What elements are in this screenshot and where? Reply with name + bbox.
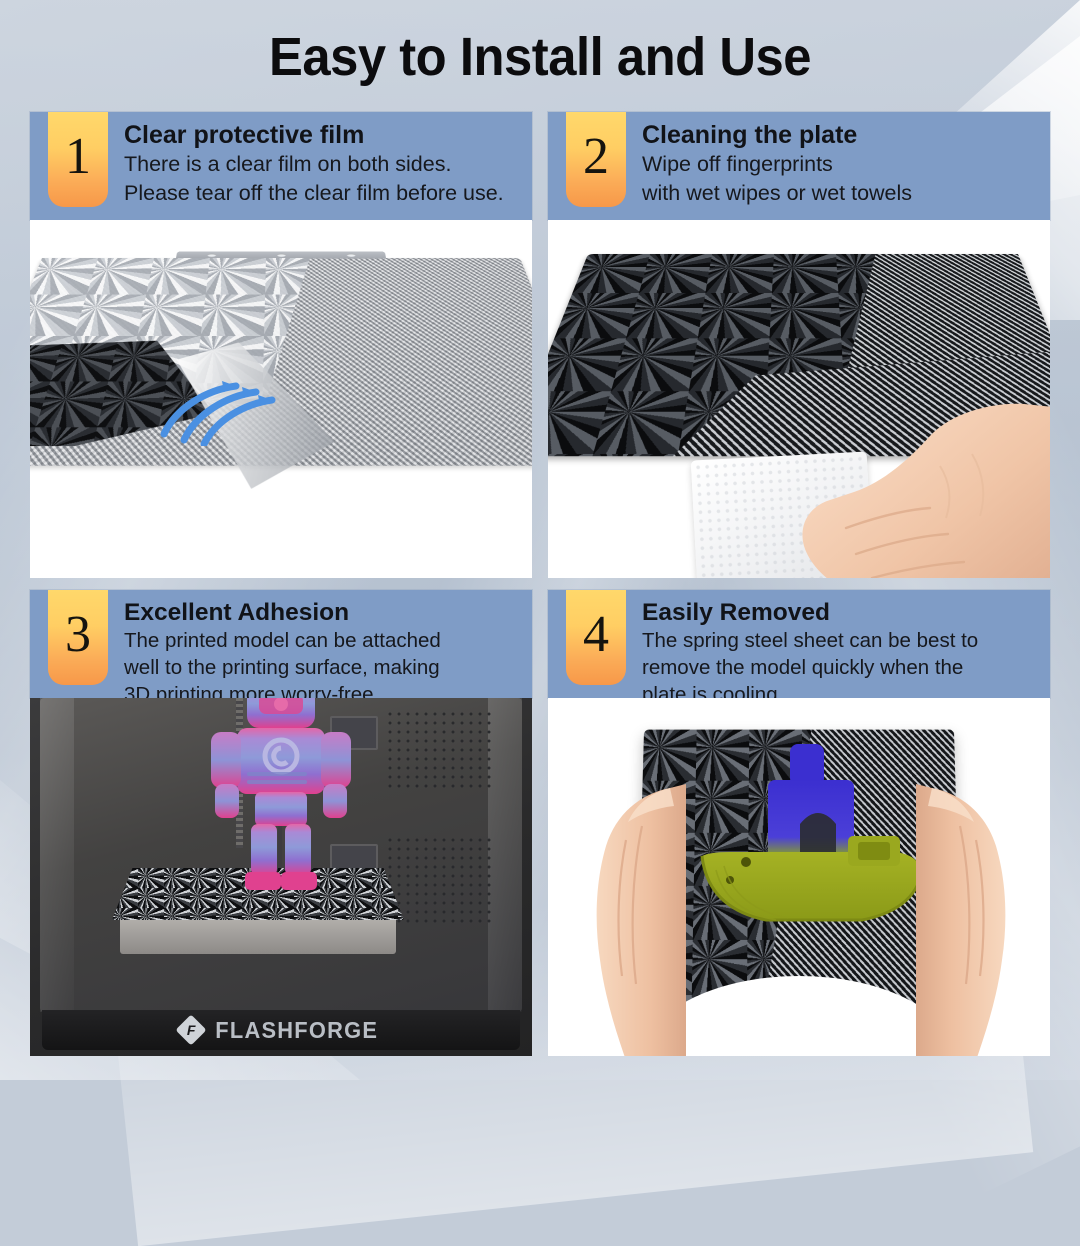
step-4-image — [548, 698, 1050, 1056]
step-1-image — [30, 220, 532, 578]
plate-hole — [277, 253, 286, 256]
printer-vent-lower — [388, 838, 496, 924]
plate-mounting-tabs — [176, 251, 386, 258]
step-3-number-badge: 3 — [48, 590, 108, 685]
step-panel-2: 2 Cleaning the plate Wipe off fingerprin… — [548, 112, 1050, 578]
step-3-text-block: Excellent Adhesion The printed model can… — [108, 590, 532, 707]
step-3-body-line-1: The printed model can be attached — [124, 628, 526, 653]
printed-robot-model — [201, 698, 361, 894]
step-4-header: 4 Easily Removed The spring steel sheet … — [548, 590, 1050, 698]
step-2-number-badge: 2 — [566, 112, 626, 207]
printer-chamber — [40, 698, 522, 1012]
step-2-body-line-1: Wipe off fingerprints — [642, 151, 1044, 178]
step-4-body-line-1: The spring steel sheet can be best to — [642, 628, 1044, 653]
printer-brand-bar: F FLASHFORGE — [42, 1010, 520, 1050]
step-2-title: Cleaning the plate — [642, 121, 1044, 149]
step-panel-1: 1 Clear protective film There is a clear… — [30, 112, 532, 578]
step-panel-3: 3 Excellent Adhesion The printed model c… — [30, 590, 532, 1056]
step-4-number-badge: 4 — [566, 590, 626, 685]
plate-hole — [346, 253, 355, 256]
step-panel-4: 4 Easily Removed The spring steel sheet … — [548, 590, 1050, 1056]
printer-vent-upper — [388, 712, 496, 790]
plate-hole — [207, 253, 216, 256]
step-2-header: 2 Cleaning the plate Wipe off fingerprin… — [548, 112, 1050, 220]
hand-wiping — [734, 396, 1050, 578]
step-1-body-line-2: Please tear off the clear film before us… — [124, 180, 526, 207]
step-1-header: 1 Clear protective film There is a clear… — [30, 112, 532, 220]
step-4-body-line-2: remove the model quickly when the — [642, 655, 1044, 680]
step-2-text-block: Cleaning the plate Wipe off fingerprints… — [626, 112, 1050, 208]
page-title: Easy to Install and Use — [32, 26, 1047, 88]
printed-boat-model — [672, 740, 940, 940]
printer-glass-left — [40, 698, 74, 1012]
flashforge-logo-icon: F — [175, 1014, 206, 1045]
step-4-title: Easily Removed — [642, 599, 1044, 626]
3d-printer-enclosure: F FLASHFORGE — [30, 698, 532, 1056]
flashforge-wordmark: FLASHFORGE — [215, 1017, 378, 1044]
peel-direction-arrows — [158, 372, 288, 446]
step-2-body-line-2: with wet wipes or wet towels — [642, 180, 1044, 207]
left-hand — [574, 770, 686, 1056]
step-3-image: F FLASHFORGE — [30, 698, 532, 1056]
step-2-image — [548, 220, 1050, 578]
step-1-body-line-1: There is a clear film on both sides. — [124, 151, 526, 178]
right-hand — [916, 770, 1028, 1056]
steps-grid: 1 Clear protective film There is a clear… — [30, 112, 1050, 1056]
step-3-body-line-2: well to the printing surface, making — [124, 655, 526, 680]
step-1-number-badge: 1 — [48, 112, 108, 207]
step-3-header: 3 Excellent Adhesion The printed model c… — [30, 590, 532, 698]
step-3-title: Excellent Adhesion — [124, 599, 526, 626]
step-4-text-block: Easily Removed The spring steel sheet ca… — [626, 590, 1050, 707]
step-1-title: Clear protective film — [124, 121, 526, 149]
step-1-text-block: Clear protective film There is a clear f… — [108, 112, 532, 208]
